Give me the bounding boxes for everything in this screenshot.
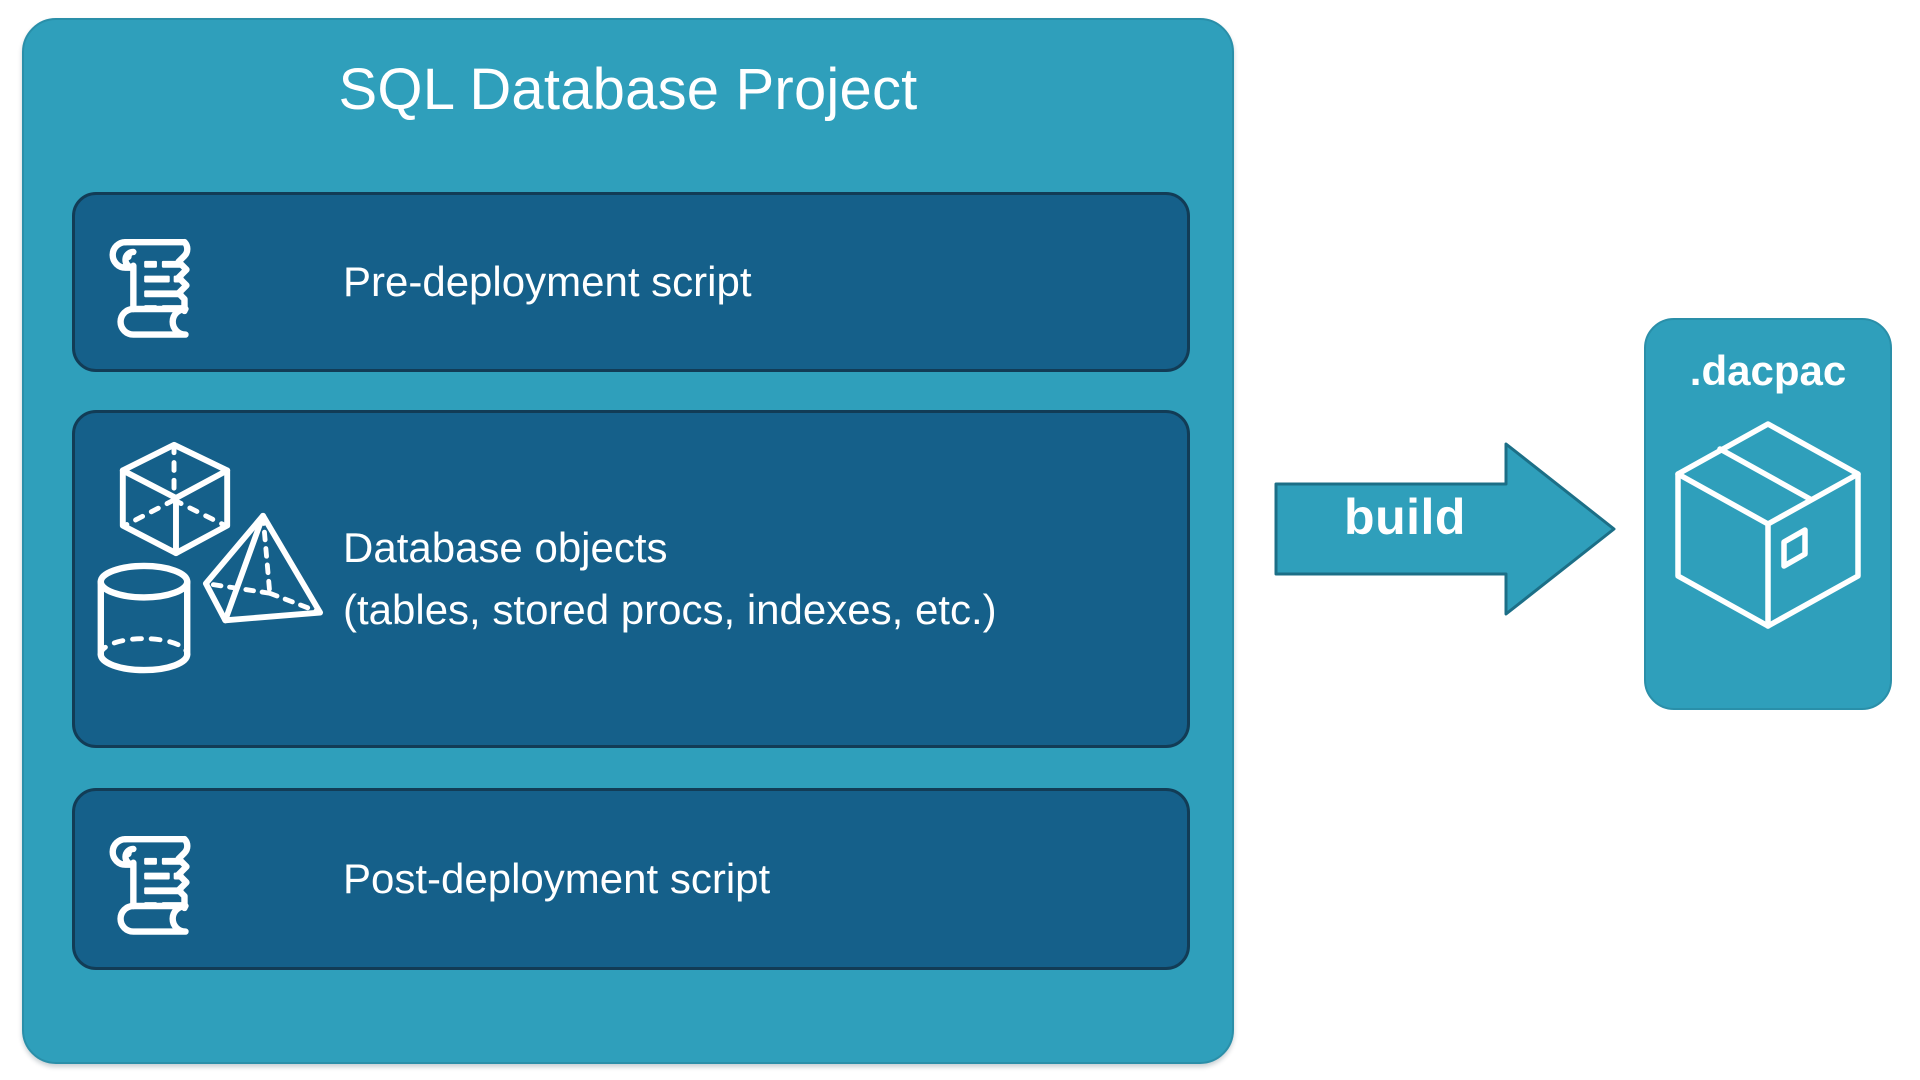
diagram-canvas: SQL Database Project: [0, 0, 1920, 1080]
card-database-objects-label: Database objects (tables, stored procs, …: [343, 517, 1187, 641]
card-post-deployment-label: Post-deployment script: [343, 850, 1187, 908]
card-pre-deployment-icons: [75, 195, 343, 369]
dacpac-output-panel: .dacpac: [1644, 318, 1892, 710]
card-post-deployment-icons: [75, 791, 343, 967]
cylinder-icon: [90, 558, 198, 685]
scroll-icon: [95, 818, 213, 941]
package-box-icon: [1672, 416, 1864, 639]
card-post-deployment[interactable]: Post-deployment script: [72, 788, 1190, 970]
pyramid-icon: [200, 508, 326, 635]
sql-database-project-panel: SQL Database Project: [22, 18, 1234, 1064]
panel-title: SQL Database Project: [24, 56, 1232, 124]
card-database-objects-icons: [75, 413, 343, 745]
card-pre-deployment[interactable]: Pre-deployment script: [72, 192, 1190, 372]
card-database-objects[interactable]: Database objects (tables, stored procs, …: [72, 410, 1190, 748]
build-arrow-icon: [1274, 440, 1616, 618]
scroll-icon: [95, 221, 213, 344]
card-pre-deployment-label: Pre-deployment script: [343, 253, 1187, 311]
dacpac-label: .dacpac: [1646, 346, 1890, 396]
